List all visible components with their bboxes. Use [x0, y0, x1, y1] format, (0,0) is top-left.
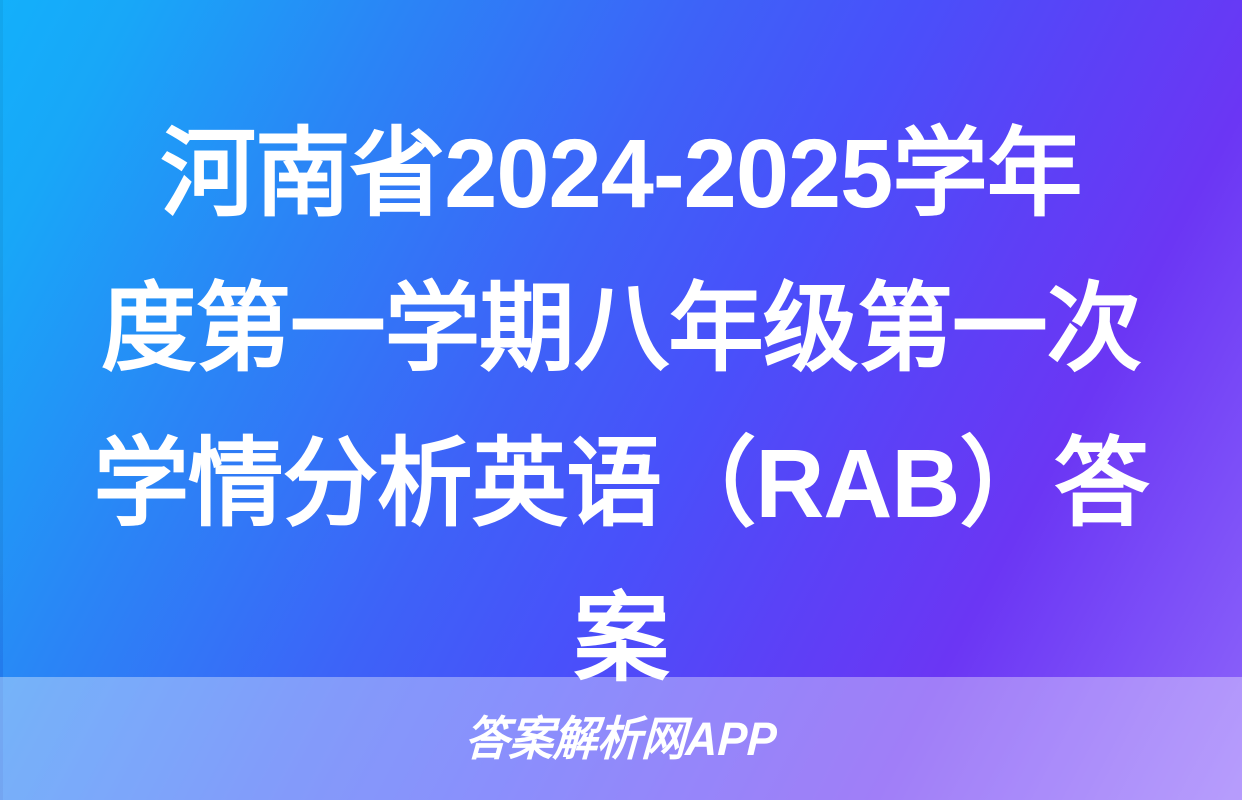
watermark-label: 答案解析网APP	[464, 715, 778, 762]
title-line-1: 河南省2024-2025学年	[61, 96, 1182, 251]
poster-canvas: 河南省2024-2025学年 度第一学期八年级第一次 学情分析英语（RAB）答 …	[0, 0, 1242, 800]
title-line-2: 度第一学期八年级第一次	[61, 251, 1182, 406]
page-title: 河南省2024-2025学年 度第一学期八年级第一次 学情分析英语（RAB）答 …	[0, 96, 1242, 716]
watermark-band: 答案解析网APP	[0, 677, 1242, 800]
title-line-3: 学情分析英语（RAB）答	[61, 406, 1182, 561]
